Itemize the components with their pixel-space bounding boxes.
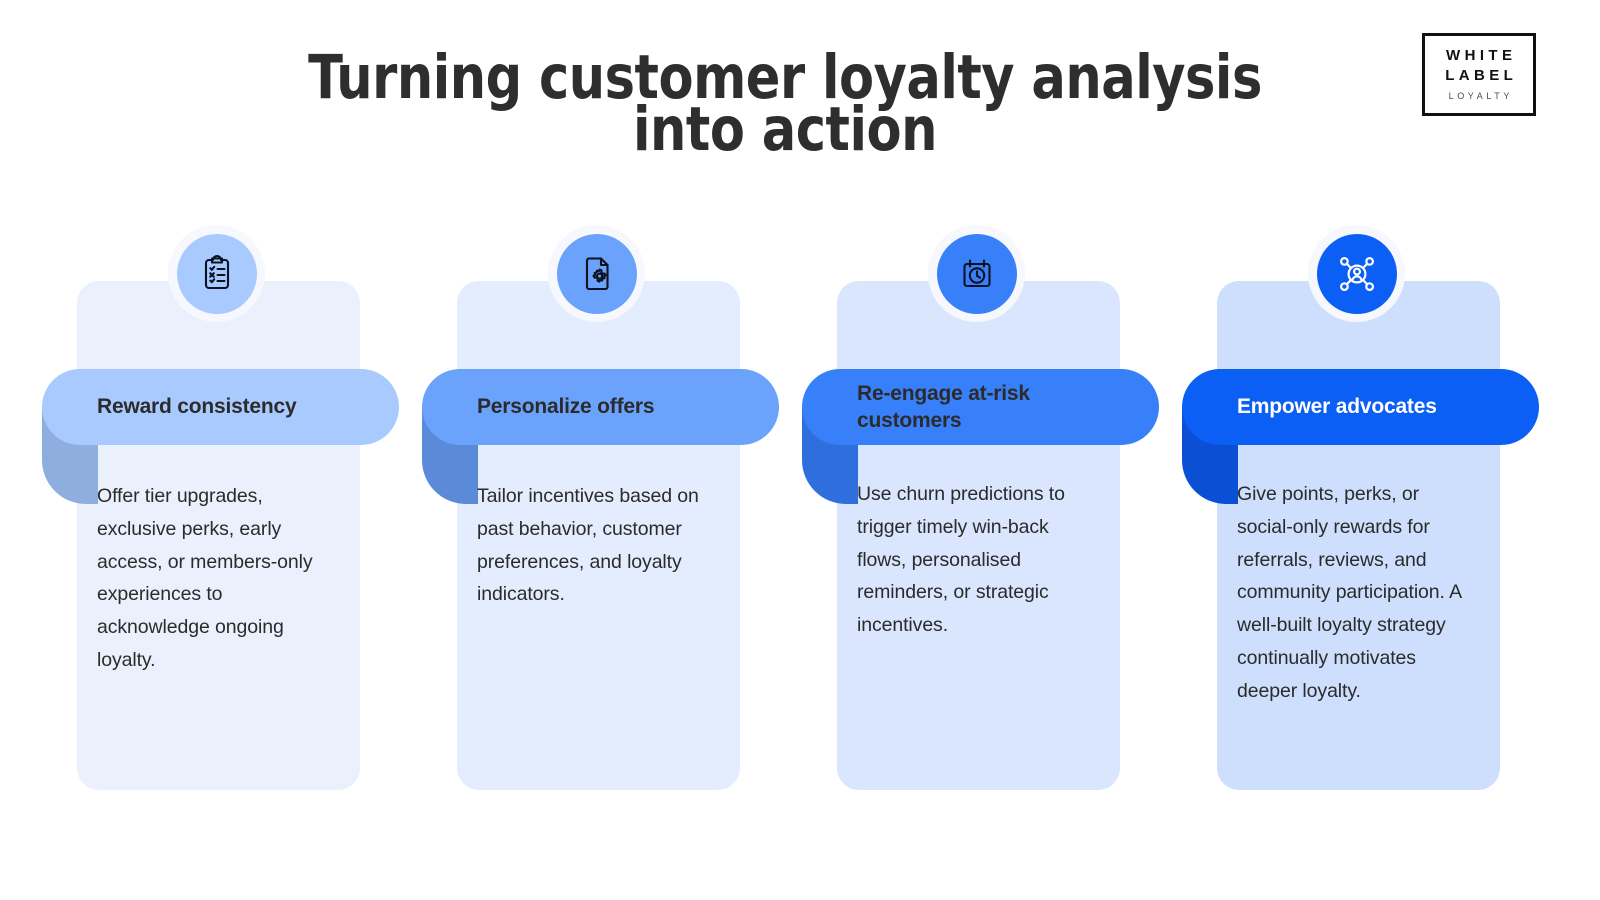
card-body-text: Use churn predictions to trigger timely … — [857, 478, 1089, 642]
card-icon-ring — [1308, 225, 1405, 322]
card-body-text: Give points, perks, or social-only rewar… — [1237, 478, 1469, 707]
card-title: Reward consistency — [42, 393, 318, 420]
cards-row: Reward consistencyOffer tier upgrades, e… — [0, 0, 1600, 900]
card-title: Re-engage at-risk customers — [802, 380, 1159, 435]
card-icon-ring — [168, 225, 265, 322]
document-gear-icon — [557, 234, 637, 314]
card-body-text: Offer tier upgrades, exclusive perks, ea… — [97, 480, 329, 677]
card-header-pill[interactable]: Personalize offers — [422, 369, 779, 445]
user-network-icon — [1317, 234, 1397, 314]
card-icon-ring — [548, 225, 645, 322]
card-title: Personalize offers — [422, 393, 676, 420]
card-header-pill[interactable]: Empower advocates — [1182, 369, 1539, 445]
card-header-pill[interactable]: Re-engage at-risk customers — [802, 369, 1159, 445]
card-header-pill[interactable]: Reward consistency — [42, 369, 399, 445]
card-title: Empower advocates — [1182, 393, 1459, 420]
clipboard-checklist-icon — [177, 234, 257, 314]
calendar-clock-icon — [937, 234, 1017, 314]
card-icon-ring — [928, 225, 1025, 322]
card-body-text: Tailor incentives based on past behavior… — [477, 480, 709, 611]
